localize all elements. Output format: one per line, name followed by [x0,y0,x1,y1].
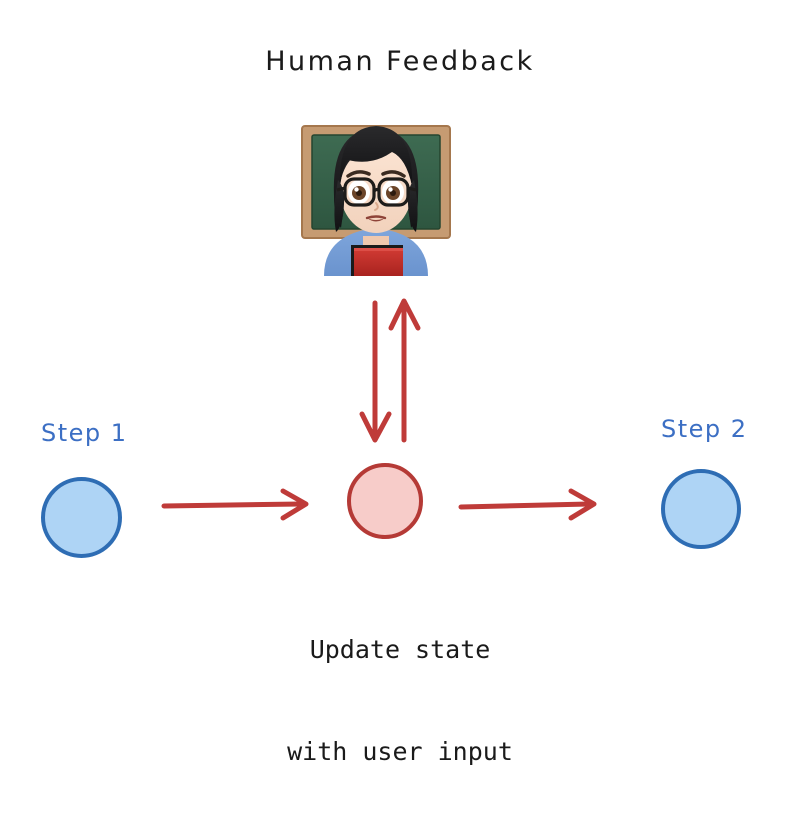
step-1-label: Step 1 [41,419,128,447]
step-2-label: Step 2 [661,415,748,443]
arrow-update-to-step2 [461,491,594,518]
node-step-1[interactable] [41,477,122,558]
woman-teacher-emoji-graphic [293,108,459,276]
page-title: Human Feedback [0,46,800,77]
woman-teacher-emoji [293,108,459,276]
node-step-2[interactable] [661,469,741,549]
arrow-human-to-update [362,303,389,440]
node-update-state[interactable] [347,463,423,539]
arrow-step1-to-update [164,491,306,518]
update-state-caption: Update state with user input [0,565,800,837]
arrow-update-to-human [391,301,418,440]
caption-line-1: Update state [0,633,800,667]
caption-line-2: with user input [0,735,800,769]
diagram-canvas: Human Feedback [0,0,800,683]
